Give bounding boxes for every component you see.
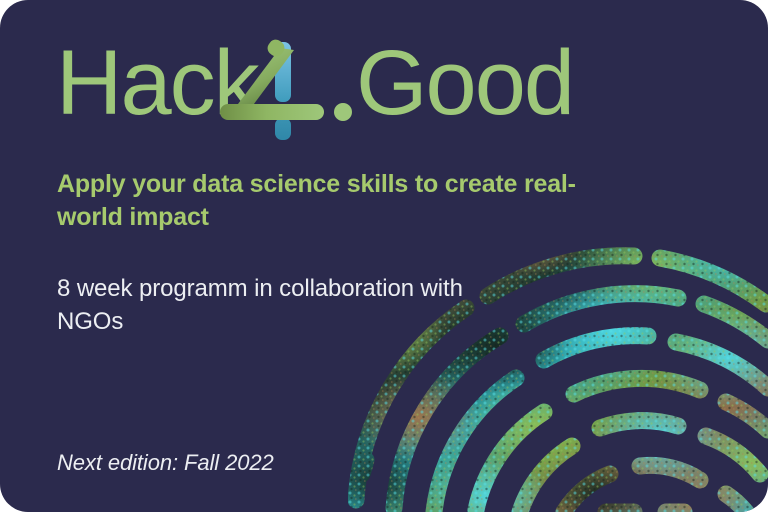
programme-description: 8 week programm in collaboration with NG… (57, 272, 497, 338)
fingerprint-forest-graphic (348, 212, 768, 512)
logo-four-stem-tail (275, 118, 291, 140)
logo-dot (334, 103, 352, 121)
logo-text-good: Good (356, 32, 573, 134)
hack4good-logo: Hack Good (56, 34, 596, 140)
headline: Apply your data science skills to create… (57, 168, 577, 235)
next-edition-note: Next edition: Fall 2022 (57, 450, 274, 476)
logo-four-crossbar (220, 104, 324, 120)
promo-card: Hack Good Apply your data science skills… (0, 0, 768, 512)
